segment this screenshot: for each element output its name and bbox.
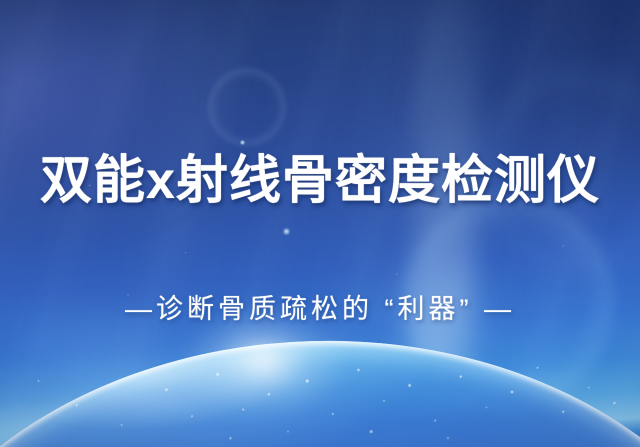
banner-text-content: 双能x射线骨密度检测仪 —诊断骨质疏松的 “利器” — bbox=[0, 0, 640, 447]
promotional-banner: 双能x射线骨密度检测仪 —诊断骨质疏松的 “利器” — bbox=[0, 0, 640, 447]
page-title: 双能x射线骨密度检测仪 bbox=[0, 152, 640, 210]
page-subtitle: —诊断骨质疏松的 “利器” — bbox=[0, 292, 640, 326]
